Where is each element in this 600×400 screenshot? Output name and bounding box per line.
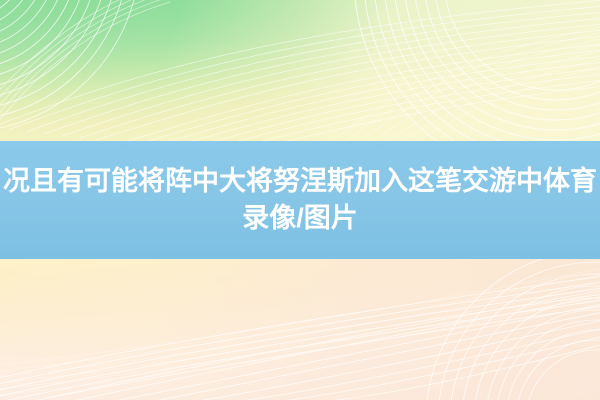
banner-image: 况且有可能将阵中大将努涅斯加入这笔交游中体育 录像/图片 — [0, 0, 600, 400]
top-left-sweep-group — [0, 0, 202, 132]
top-left-arc-group — [0, 0, 140, 132]
headline-line-2: 录像/图片 — [242, 200, 358, 237]
headline-line-1: 况且有可能将阵中大将努涅斯加入这笔交游中体育 — [3, 163, 597, 200]
headline-text: 况且有可能将阵中大将努涅斯加入这笔交游中体育 录像/图片 — [0, 141, 600, 259]
bottom-sweep-band-group — [0, 276, 600, 400]
